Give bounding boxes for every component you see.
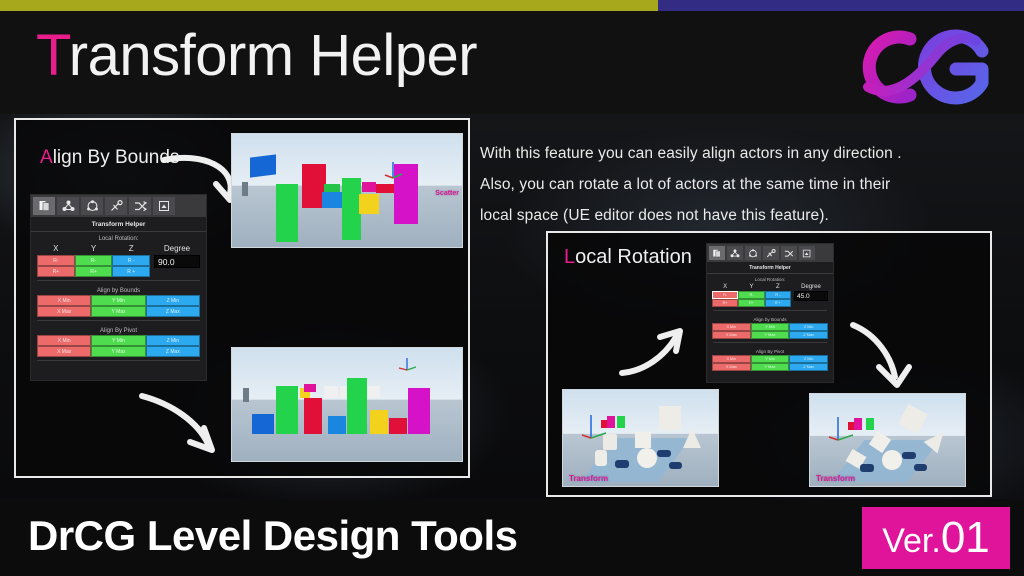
rotation-button-rows: R- R+ R- R+ R - R + [712, 291, 791, 307]
scene-object [669, 462, 682, 469]
description-line-2: Also, you can rotate a lot of actors at … [480, 169, 1000, 200]
rotation-before-viewport: Transform [562, 389, 719, 487]
local-rotation-title-rest: ocal Rotation [575, 246, 692, 268]
scene-object [866, 418, 874, 430]
pivot-y-max-button[interactable]: Y Max [91, 346, 145, 357]
rotate-y-plus-button[interactable]: R+ [75, 266, 113, 277]
scene-box [276, 386, 298, 434]
description-line-3: local space (UE editor does not have thi… [480, 200, 1000, 231]
align-by-bounds-buttons: X Min X Max Y Min Y Max Z Min Z Max [707, 323, 833, 339]
align-by-bounds-buttons: X Min X Max Y Min Y Max Z Min Z Max [31, 295, 206, 317]
scene-box [347, 378, 367, 434]
align-by-bounds-title-accent: A [40, 147, 53, 168]
page-title: Transform Helper [36, 27, 477, 85]
pivot-z-max-button[interactable]: Z Max [789, 363, 828, 371]
scene-object [615, 460, 629, 468]
scene-box [324, 386, 338, 398]
footer-bar: DrCG Level Design Tools Ver.01 [0, 499, 1024, 576]
rotation-col-z: R - R + [112, 255, 150, 277]
axis-label-y: Y [738, 283, 764, 291]
copy-paste-icon[interactable] [33, 197, 55, 215]
bounds-col-x: X Min X Max [712, 323, 751, 339]
rotate-x-plus-button[interactable]: R+ [712, 299, 738, 307]
bounds-col-x: X Min X Max [37, 295, 91, 317]
local-rotation-label: Local Rotation: [707, 274, 833, 283]
rotation-axes-group: X Y Z R- R+ R- R+ R [712, 283, 791, 307]
scene-box [243, 388, 249, 402]
arrow-to-widget [618, 323, 704, 379]
rotation-axes-group: X Y Z R- R+ R- R+ R - R + [37, 243, 150, 277]
bounds-x-min-button[interactable]: X Min [37, 295, 91, 306]
scatter-before-viewport: Scatter [231, 133, 463, 248]
slide-root: Transform Helper [0, 0, 1024, 576]
align-bounds-row: X Min X Max Y Min Y Max Z Min Z Max [712, 323, 828, 339]
pivot-x-max-button[interactable]: X Max [37, 346, 91, 357]
rotation-col-x: R- R+ [37, 255, 75, 277]
bounds-z-min-button[interactable]: Z Min [789, 323, 828, 331]
bounds-x-max-button[interactable]: X Max [712, 331, 751, 339]
scene-box [252, 414, 274, 434]
pivot-z-max-button[interactable]: Z Max [146, 346, 200, 357]
align-bounds-row: X Min X Max Y Min Y Max Z Min Z Max [37, 295, 200, 317]
scene-box [250, 154, 276, 177]
bounds-z-max-button[interactable]: Z Max [789, 331, 828, 339]
page-title-rest: ransform Helper [69, 23, 477, 88]
pivot-z-min-button[interactable]: Z Min [789, 355, 828, 363]
pivot-icon[interactable] [745, 246, 761, 260]
rotate-x-minus-button[interactable]: R- [712, 291, 738, 299]
rotation-col-z: R - R + [765, 291, 791, 307]
gizmo-icon [396, 356, 418, 372]
local-rotation-title-accent: L [564, 246, 575, 268]
align-by-pivot-label: Align By Pivot [707, 346, 833, 355]
rotation-col-y: R- R+ [75, 255, 113, 277]
viewport-tag: Transform [569, 474, 608, 483]
header-bar: Transform Helper [0, 11, 1024, 114]
scene-box [362, 182, 376, 192]
version-text: Ver.01 [882, 516, 990, 560]
rotate-y-minus-button[interactable]: R- [738, 291, 764, 299]
align-by-bounds-label: Align by Bounds [31, 284, 206, 295]
arrow-widget-to-result [132, 388, 232, 460]
gizmo-icon [382, 158, 404, 180]
bounds-y-max-button[interactable]: Y Max [751, 331, 790, 339]
arrow-to-result [843, 319, 929, 391]
align-pivot-row: X Min X Max Y Min Y Max Z Min Z Max [712, 355, 828, 371]
scatter-icon[interactable] [57, 197, 79, 215]
align-pivot-row: X Min X Max Y Min Y Max Z Min Z Max [37, 335, 200, 357]
local-rotation-section: X Y Z R- R+ R- R+ R - R + [31, 243, 206, 277]
pivot-x-min-button[interactable]: X Min [37, 335, 91, 346]
version-prefix: Ver. [882, 522, 941, 560]
randomize-icon[interactable] [129, 197, 151, 215]
scene-object [659, 406, 681, 430]
version-number: 01 [941, 513, 990, 562]
local-rotation-title: Local Rotation [564, 247, 692, 267]
top-accent-bar [0, 0, 1024, 11]
gizmo-icon [828, 414, 854, 442]
pivot-col-x: X Min X Max [37, 335, 91, 357]
axis-label-row: X Y Z [712, 283, 791, 291]
scene-sphere [882, 450, 902, 470]
bounds-col-z: Z Min Z Max [146, 295, 200, 317]
degree-group: Degree 45.0 [794, 283, 828, 307]
pivot-y-max-button[interactable]: Y Max [751, 363, 790, 371]
divider [713, 310, 827, 311]
scene-box [370, 410, 388, 434]
scene-box [368, 386, 380, 398]
align-by-pivot-label: Align By Pivot [31, 324, 206, 335]
pivot-y-min-button[interactable]: Y Min [751, 355, 790, 363]
bounds-x-max-button[interactable]: X Max [37, 306, 91, 317]
transform-helper-toolbar[interactable] [707, 244, 833, 262]
scene-object [902, 452, 916, 459]
rotate-z-minus-button[interactable]: R - [112, 255, 150, 266]
pivot-x-max-button[interactable]: X Max [712, 363, 751, 371]
rotate-z-minus-button[interactable]: R - [765, 291, 791, 299]
rotate-x-minus-button[interactable]: R- [37, 255, 75, 266]
pivot-icon[interactable] [81, 197, 103, 215]
divider-2 [37, 320, 200, 321]
transform-helper-window-title: Transform Helper [707, 262, 833, 274]
scene-object [657, 450, 671, 457]
scene-box [304, 398, 322, 434]
pivot-col-z: Z Min Z Max [789, 355, 828, 371]
scene-object [617, 416, 625, 428]
scene-object [914, 464, 927, 471]
bounds-x-min-button[interactable]: X Min [712, 323, 751, 331]
align-by-bounds-label: Align by Bounds [707, 314, 833, 323]
rotate-z-plus-button[interactable]: R + [112, 266, 150, 277]
bounds-y-min-button[interactable]: Y Min [91, 295, 145, 306]
scene-box [304, 384, 316, 392]
axis-label-row: X Y Z [37, 243, 150, 255]
scene-box [322, 192, 342, 208]
scene-box [276, 184, 298, 242]
scatter-icon[interactable] [727, 246, 743, 260]
rotation-col-y: R- R+ [738, 291, 764, 307]
rotation-after-viewport: Transform [809, 393, 966, 487]
scene-sphere [637, 448, 657, 468]
rotate-x-plus-button[interactable]: R+ [37, 266, 75, 277]
randomize-icon[interactable] [781, 246, 797, 260]
local-rotation-section: X Y Z R- R+ R- R+ R [707, 283, 833, 307]
axis-label-z: Z [765, 283, 791, 291]
divider [37, 280, 200, 281]
scene-object [635, 432, 651, 448]
divider-2 [713, 342, 827, 343]
scene-object [860, 464, 874, 472]
brand-title: DrCG Level Design Tools [28, 515, 518, 557]
transform-helper-widget-bounds[interactable]: Transform Helper Local Rotation: X Y Z R… [30, 194, 207, 381]
transform-helper-toolbar[interactable] [31, 195, 206, 217]
degree-group: Degree 90.0 [154, 243, 200, 277]
page-title-accent: T [36, 23, 69, 88]
bounds-col-y: Y Min Y Max [91, 295, 145, 317]
feature-description: With this feature you can easily align a… [480, 138, 1000, 231]
align-icon[interactable] [105, 197, 127, 215]
description-line-1: With this feature you can easily align a… [480, 138, 1000, 169]
pivot-col-y: Y Min Y Max [751, 355, 790, 371]
copy-paste-icon[interactable] [709, 246, 725, 260]
scene-object [854, 418, 862, 430]
bounds-y-min-button[interactable]: Y Min [751, 323, 790, 331]
bounds-col-y: Y Min Y Max [751, 323, 790, 339]
scene-box [328, 416, 346, 434]
divider-3 [37, 360, 200, 361]
top-accent-left [0, 0, 658, 11]
snap-icon[interactable] [799, 246, 815, 260]
transform-helper-widget-rotation[interactable]: Transform Helper Local Rotation: X Y Z R… [706, 243, 834, 383]
version-badge: Ver.01 [862, 507, 1010, 569]
bounds-z-min-button[interactable]: Z Min [146, 295, 200, 306]
snap-icon[interactable] [153, 197, 175, 215]
pivot-z-min-button[interactable]: Z Min [146, 335, 200, 346]
rotation-button-rows: R- R+ R- R+ R - R + [37, 255, 150, 277]
align-icon[interactable] [763, 246, 779, 260]
aligned-after-viewport [231, 347, 463, 462]
scene-cone [683, 428, 701, 448]
align-by-pivot-buttons: X Min X Max Y Min Y Max Z Min Z Max [31, 335, 206, 357]
scene-cylinder [595, 450, 607, 466]
bounds-col-z: Z Min Z Max [789, 323, 828, 339]
bounds-z-max-button[interactable]: Z Max [146, 306, 200, 317]
axis-label-z: Z [112, 243, 150, 255]
axis-label-y: Y [75, 243, 113, 255]
local-rotation-label: Local Rotation: [31, 232, 206, 243]
degree-input[interactable]: 45.0 [794, 291, 828, 301]
scene-box [242, 182, 248, 196]
rotate-z-plus-button[interactable]: R + [765, 299, 791, 307]
rotate-y-minus-button[interactable]: R- [75, 255, 113, 266]
pivot-col-y: Y Min Y Max [91, 335, 145, 357]
rotate-y-plus-button[interactable]: R+ [738, 299, 764, 307]
scene-box [389, 418, 407, 434]
drcg-logo [824, 17, 1010, 117]
viewport-tag: Scatter [435, 190, 459, 197]
gizmo-icon [581, 412, 607, 440]
rotation-col-x: R- R+ [712, 291, 738, 307]
pivot-x-min-button[interactable]: X Min [712, 355, 751, 363]
axis-label-x: X [712, 283, 738, 291]
scene-box [408, 388, 430, 434]
degree-input[interactable]: 90.0 [154, 255, 200, 268]
top-accent-right [658, 0, 1024, 11]
degree-label: Degree [164, 243, 190, 255]
transform-helper-window-title: Transform Helper [31, 217, 206, 232]
pivot-col-z: Z Min Z Max [146, 335, 200, 357]
scene-object [607, 416, 615, 428]
pivot-col-x: X Min X Max [712, 355, 751, 371]
scene-box [359, 194, 379, 214]
degree-label: Degree [801, 283, 821, 291]
viewport-tag: Transform [816, 474, 855, 483]
align-by-pivot-buttons: X Min X Max Y Min Y Max Z Min Z Max [707, 355, 833, 371]
bounds-y-max-button[interactable]: Y Max [91, 306, 145, 317]
axis-label-x: X [37, 243, 75, 255]
pivot-y-min-button[interactable]: Y Min [91, 335, 145, 346]
